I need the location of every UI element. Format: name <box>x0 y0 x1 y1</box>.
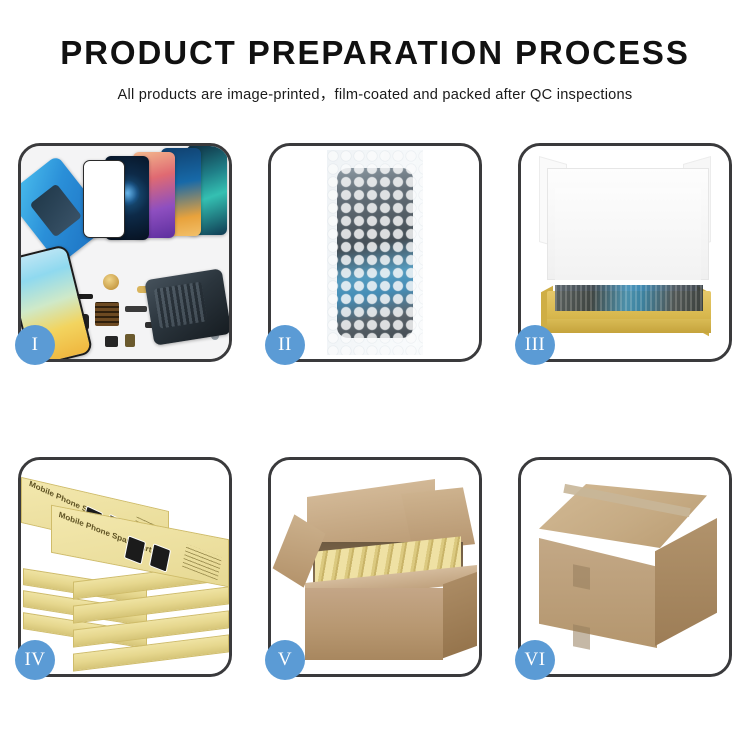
packed-product-icon <box>555 285 703 311</box>
step-badge-2: II <box>265 325 305 365</box>
page-subtitle: All products are image-printed，film-coat… <box>0 83 750 104</box>
step-panel-2: II <box>268 143 482 362</box>
step-badge-3: III <box>515 325 555 365</box>
step-image-4: Mobile Phone Spare Parts Mobile Phone Sp… <box>21 460 229 674</box>
step-image-5 <box>271 460 479 674</box>
foam-liner-icon <box>555 188 701 280</box>
bubble-pattern-icon <box>327 150 423 355</box>
step-badge-4: IV <box>15 640 55 680</box>
carton-flap-tab <box>573 624 590 650</box>
spare-part-icon <box>125 334 135 347</box>
step-image-6 <box>521 460 729 674</box>
spare-part-icon <box>103 274 119 290</box>
page-title: PRODUCT PREPARATION PROCESS <box>0 34 750 72</box>
spare-part-icon <box>125 306 147 312</box>
step-panel-5: V <box>268 457 482 677</box>
spare-part-icon <box>105 336 118 347</box>
carton-front-face <box>305 588 443 660</box>
product-preparation-page: PRODUCT PREPARATION PROCESS All products… <box>0 0 750 750</box>
carton-flap-tab <box>573 564 590 590</box>
step-badge-5: V <box>265 640 305 680</box>
carton-front-face <box>539 538 657 648</box>
step-panel-3: III <box>518 143 732 362</box>
step-panel-6: VI <box>518 457 732 677</box>
box-tray-front <box>547 319 711 333</box>
open-shipping-carton-icon <box>277 474 473 666</box>
phone-logic-board-icon <box>144 268 229 345</box>
sealed-carton-icon <box>529 478 721 662</box>
bubble-wrap-bag-icon <box>327 150 423 355</box>
tempered-glass-icon <box>83 160 125 238</box>
step-badge-1: I <box>15 325 55 365</box>
retail-box-stack-icon: Mobile Phone Spare Parts Mobile Phone Sp… <box>21 460 229 674</box>
open-inner-box-icon <box>533 158 717 351</box>
step-panel-4: Mobile Phone Spare Parts Mobile Phone Sp… <box>18 457 232 677</box>
carton-side-face <box>443 572 477 658</box>
page-header: PRODUCT PREPARATION PROCESS All products… <box>0 0 750 104</box>
step-image-3 <box>521 146 729 359</box>
step-image-1 <box>21 146 229 359</box>
step-panel-1: I <box>18 143 232 362</box>
process-steps-grid: I II <box>18 143 732 677</box>
step-image-2 <box>271 146 479 359</box>
step-badge-6: VI <box>515 640 555 680</box>
spare-part-icon <box>95 302 119 326</box>
